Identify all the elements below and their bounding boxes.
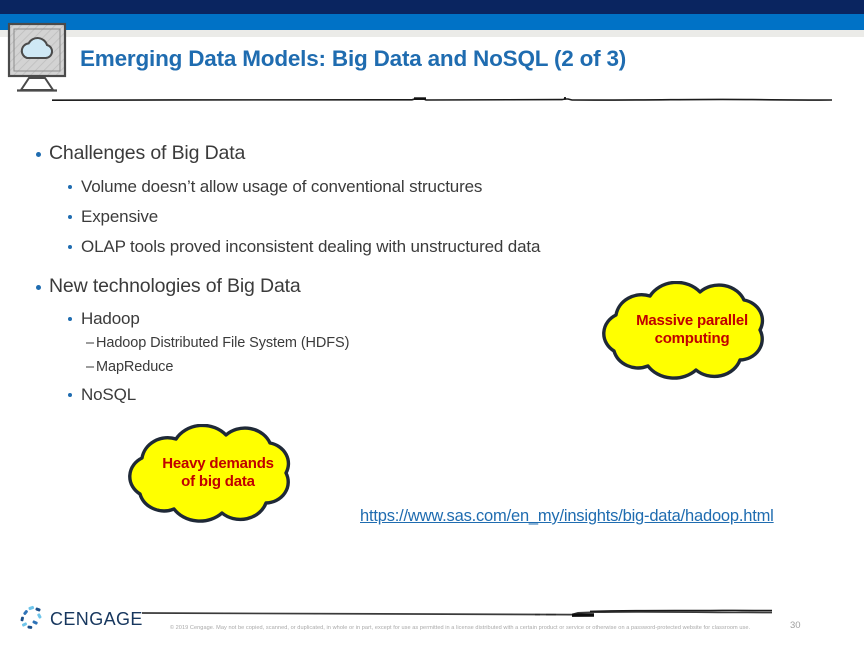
header-bar-blue (0, 14, 864, 30)
bullet-level2-label: Hadoop (81, 309, 140, 328)
monitor-cloud-icon (7, 22, 69, 94)
bullet-level2-label: OLAP tools proved inconsistent dealing w… (81, 237, 540, 256)
bullet-level1-label: New technologies of Big Data (49, 275, 301, 297)
callout-line-1: Heavy demands (86, 455, 350, 473)
bullet-dot-icon (68, 245, 72, 249)
cengage-wordmark: CENGAGE (50, 609, 143, 629)
callout-cloud-label: Heavy demands of big data (86, 455, 350, 491)
callout-cloud-heavy-demands: Heavy demands of big data (86, 424, 350, 528)
bullet-dot-icon (36, 152, 41, 157)
bullet-level2-volume: Volume doesn’t allow usage of convention… (34, 178, 734, 195)
callout-line-1: Massive parallel (560, 312, 824, 330)
bullet-level3-label: MapReduce (96, 359, 173, 375)
slide-canvas: Emerging Data Models: Big Data and NoSQL… (0, 0, 864, 648)
bullet-dot-icon (68, 215, 72, 219)
bullet-level2-label: NoSQL (81, 385, 136, 404)
cengage-swirl-icon (20, 606, 42, 629)
cengage-logo: CENGAGE (14, 604, 144, 632)
callout-line-2: computing (560, 330, 824, 348)
callout-cloud-label: Massive parallel computing (560, 312, 824, 348)
bullet-level1-challenges: Challenges of Big Data (34, 144, 734, 164)
bullet-dot-icon (36, 285, 41, 290)
source-url-link[interactable]: https://www.sas.com/en_my/insights/big-d… (360, 507, 774, 526)
bullet-level2-nosql: NoSQL (34, 386, 734, 403)
page-title: Emerging Data Models: Big Data and NoSQL… (80, 46, 820, 72)
bullet-level1-label: Challenges of Big Data (49, 142, 245, 164)
header-bar-gray (0, 30, 864, 37)
bullet-level2-label: Expensive (81, 207, 158, 226)
bullet-dot-icon (68, 317, 72, 321)
bullet-level2-expensive: Expensive (34, 208, 734, 225)
bullet-level2-label: Volume doesn’t allow usage of convention… (81, 177, 482, 196)
copyright-text: © 2019 Cengage. May not be copied, scann… (150, 624, 770, 634)
bullet-dot-icon (68, 393, 72, 397)
footer-divider (142, 606, 772, 620)
callout-line-2: of big data (86, 473, 350, 491)
dash-bullet-icon: – (86, 336, 94, 351)
page-number: 30 (790, 620, 801, 631)
bullet-level3-label: Hadoop Distributed File System (HDFS) (96, 335, 349, 351)
bullet-level2-olap: OLAP tools proved inconsistent dealing w… (34, 238, 734, 255)
dash-bullet-icon: – (86, 360, 94, 375)
bullet-dot-icon (68, 185, 72, 189)
header-bar-navy (0, 0, 864, 14)
title-divider (52, 90, 832, 96)
callout-cloud-massive-parallel: Massive parallel computing (560, 281, 824, 385)
